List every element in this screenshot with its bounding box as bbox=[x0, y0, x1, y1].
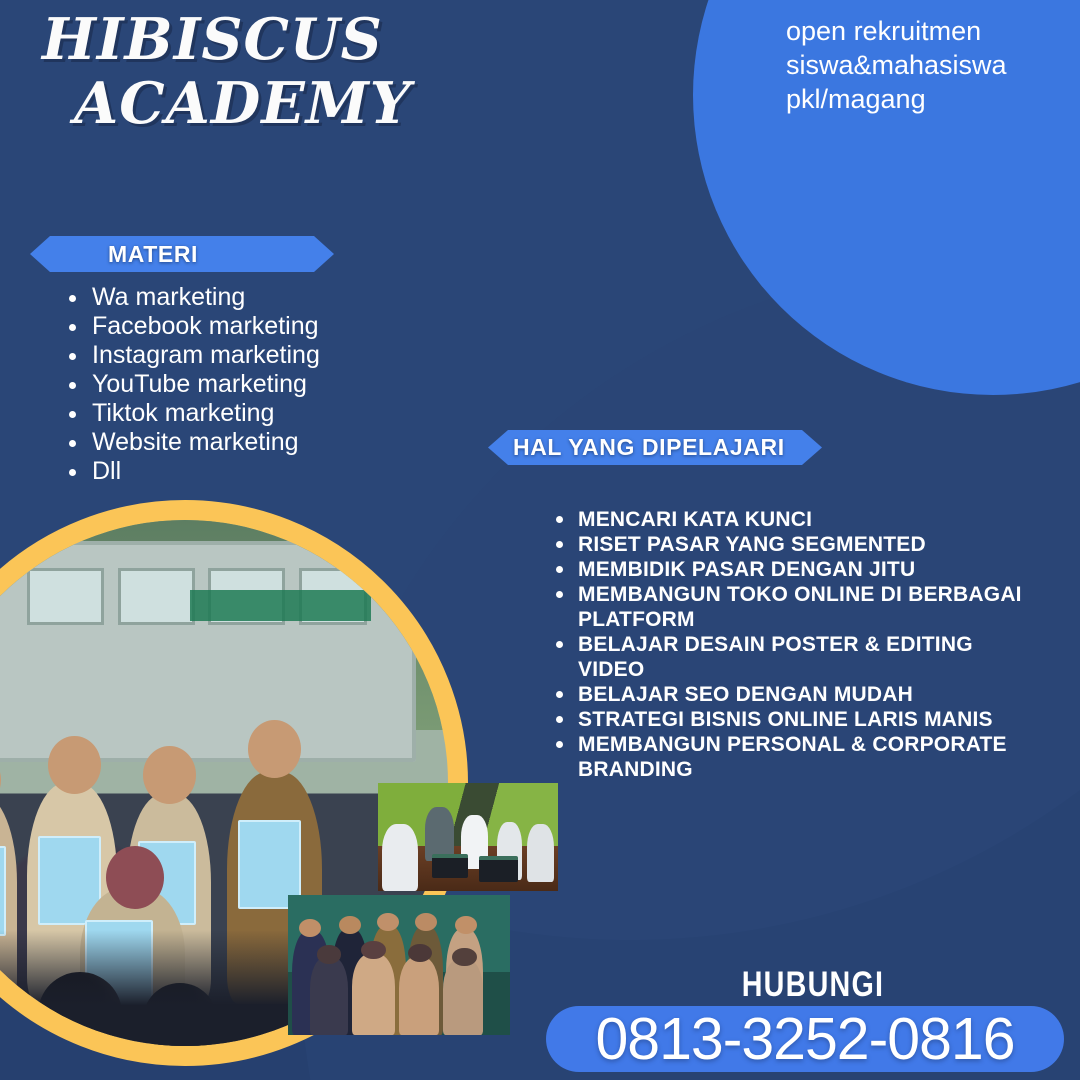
contact-label: HUBUNGI bbox=[594, 966, 1032, 1004]
list-item: STRATEGI BISNIS ONLINE LARIS MANIS bbox=[578, 707, 1028, 732]
list-item: YouTube marketing bbox=[92, 370, 512, 399]
hal-yang-dipelajari-list: MENCARI KATA KUNCI RISET PASAR YANG SEGM… bbox=[578, 507, 1028, 782]
contact-phone-pill[interactable]: 0813-3252-0816 bbox=[546, 1006, 1064, 1072]
list-item: Facebook marketing bbox=[92, 312, 512, 341]
list-item: BELAJAR DESAIN POSTER & EDITING VIDEO bbox=[578, 632, 1028, 682]
materi-badge: MATERI bbox=[30, 236, 334, 272]
hal-yang-dipelajari-badge-label: HAL YANG DIPELAJARI bbox=[513, 434, 785, 461]
inset-photo-lab bbox=[378, 783, 558, 891]
recruitment-line-2: siswa&mahasiswa bbox=[786, 48, 1076, 82]
list-item: Website marketing bbox=[92, 428, 512, 457]
list-item: BELAJAR SEO DENGAN MUDAH bbox=[578, 682, 1028, 707]
recruitment-line-3: pkl/magang bbox=[786, 82, 1076, 116]
list-item: Tiktok marketing bbox=[92, 399, 512, 428]
title-line-2: ACADEMY bbox=[32, 72, 672, 136]
poster-canvas: HIBISCUS ACADEMY open rekruitmen siswa&m… bbox=[0, 0, 1080, 1080]
list-item: Instagram marketing bbox=[92, 341, 512, 370]
list-item: MEMBIDIK PASAR DENGAN JITU bbox=[578, 557, 1028, 582]
recruitment-line-1: open rekruitmen bbox=[786, 14, 1076, 48]
list-item: Dll bbox=[92, 457, 512, 486]
list-item: Wa marketing bbox=[92, 283, 512, 312]
list-item: MEMBANGUN PERSONAL & CORPORATE BRANDING bbox=[578, 732, 1028, 782]
list-item: MEMBANGUN TOKO ONLINE DI BERBAGAI PLATFO… bbox=[578, 582, 1028, 632]
recruitment-blurb: open rekruitmen siswa&mahasiswa pkl/maga… bbox=[786, 14, 1076, 116]
materi-list: Wa marketing Facebook marketing Instagra… bbox=[92, 283, 512, 486]
list-item: RISET PASAR YANG SEGMENTED bbox=[578, 532, 1028, 557]
page-title: HIBISCUS ACADEMY bbox=[32, 8, 672, 136]
materi-badge-label: MATERI bbox=[108, 241, 198, 268]
list-item: MENCARI KATA KUNCI bbox=[578, 507, 1028, 532]
hal-yang-dipelajari-badge: HAL YANG DIPELAJARI bbox=[488, 430, 822, 465]
inset-photo-group bbox=[288, 895, 510, 1035]
contact-phone-number: 0813-3252-0816 bbox=[595, 1005, 1014, 1073]
title-line-1: HIBISCUS bbox=[32, 8, 672, 72]
